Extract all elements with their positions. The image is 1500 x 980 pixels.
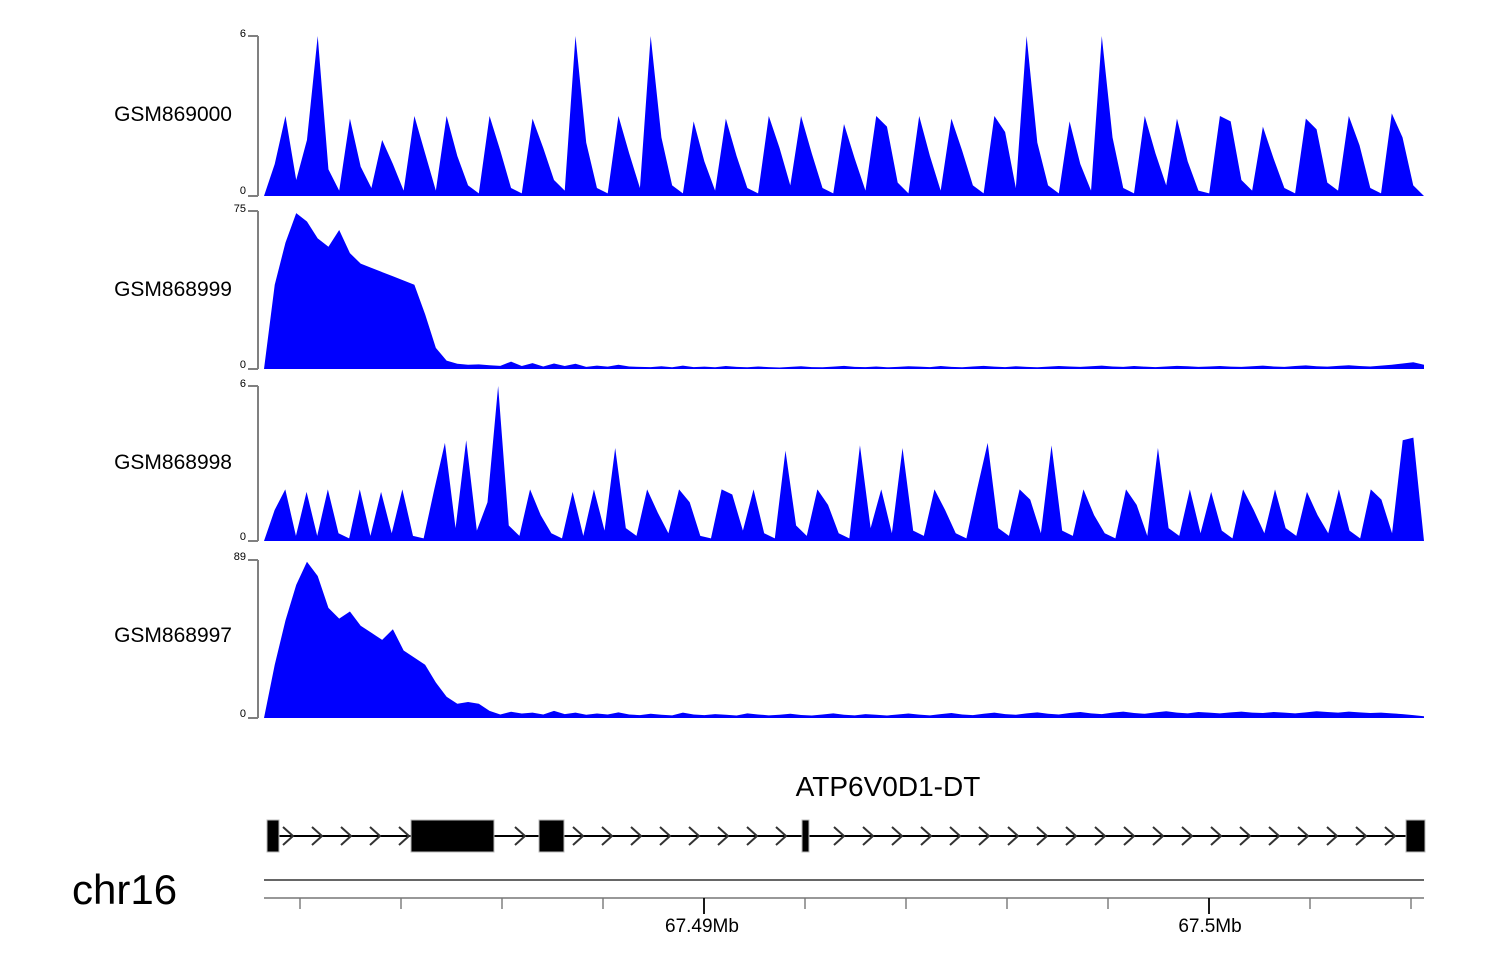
genome-browser: GSM869000 6 0 GSM868999 75 0 GSM868998 6… xyxy=(0,0,1500,980)
axis-tick-label-1: 67.49Mb xyxy=(602,916,802,938)
axis-tick-label-2: 67.5Mb xyxy=(1110,916,1310,938)
chromosome-ruler xyxy=(0,0,1500,980)
